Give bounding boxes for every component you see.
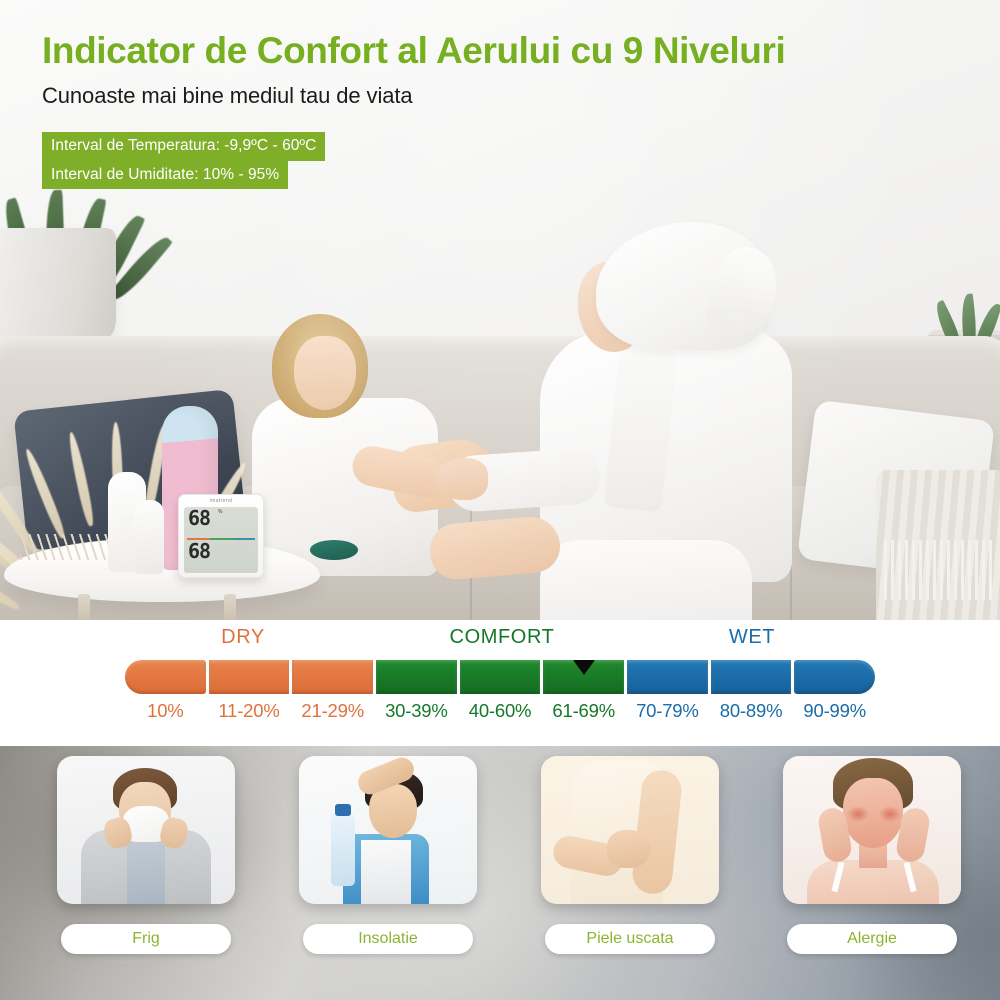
scale-segment <box>209 660 290 694</box>
device-screen: 68 % 68 <box>184 507 258 573</box>
scale-segment <box>711 660 792 694</box>
scale-segment <box>125 660 206 694</box>
scale-tick: 80-89% <box>711 700 792 728</box>
scale-segment <box>460 660 541 694</box>
scale-tick: 21-29% <box>292 700 373 728</box>
card-label-piele-uscata: Piele uscata <box>545 924 715 954</box>
zone-label-dry: DRY <box>221 626 265 649</box>
thermo-hygrometer-device: imatrend 68 % 68 <box>178 494 264 578</box>
scale-tick: 40-60% <box>460 700 541 728</box>
throw-fringe <box>884 540 994 600</box>
scale-tick: 61-69% <box>543 700 624 728</box>
current-level-marker-icon <box>573 660 595 675</box>
zone-label-wet: WET <box>729 626 775 649</box>
scale-tick-labels: 10% 11-20% 21-29% 30-39% 40-60% 61-69% 7… <box>125 700 875 728</box>
spec-badges: Interval de Temperatura: -9,9ºC - 60ºC I… <box>42 132 785 189</box>
card-alergie[interactable]: Alergie <box>774 756 970 954</box>
overheated-boy-photo-icon <box>299 756 477 904</box>
green-object <box>310 540 358 560</box>
scale-tick: 30-39% <box>376 700 457 728</box>
card-piele-uscata[interactable]: Piele uscata <box>532 756 728 954</box>
card-frig[interactable]: Frig <box>48 756 244 954</box>
page-title: Indicator de Confort al Aerului cu 9 Niv… <box>42 30 785 71</box>
white-bottle-small <box>134 500 164 574</box>
scale-segment <box>627 660 708 694</box>
symptom-cards-section: Frig Insolatie <box>0 746 1000 1000</box>
card-label-frig: Frig <box>61 924 231 954</box>
red-face-woman-photo-icon <box>783 756 961 904</box>
scale-tick: 90-99% <box>794 700 875 728</box>
scale-zone-labels: DRY COMFORT WET <box>0 626 1000 652</box>
header-text-block: Indicator de Confort al Aerului cu 9 Niv… <box>42 30 785 189</box>
sneezing-man-photo-icon <box>57 756 235 904</box>
symptom-cards-row: Frig Insolatie <box>0 746 1000 1000</box>
comfort-scale-bar <box>125 660 875 694</box>
scale-segment <box>376 660 457 694</box>
scratching-arm-photo-icon <box>541 756 719 904</box>
device-humidity-unit: % <box>218 509 222 515</box>
comfort-scale-section: DRY COMFORT WET 10% 11-20% 21-29% 30-39%… <box>0 620 1000 746</box>
badge-temperature-range: Interval de Temperatura: -9,9ºC - 60ºC <box>42 132 325 160</box>
infographic-page: imatrend 68 % 68 Indicator de Confort al… <box>0 0 1000 1000</box>
scale-tick: 70-79% <box>627 700 708 728</box>
device-temperature-value: 68 <box>188 541 210 561</box>
device-brand-label: imatrend <box>179 498 263 504</box>
device-humidity-value: 68 <box>188 508 210 528</box>
scale-segment <box>292 660 373 694</box>
scale-segment <box>794 660 875 694</box>
card-label-insolatie: Insolatie <box>303 924 473 954</box>
zone-label-comfort: COMFORT <box>450 626 555 649</box>
scale-tick: 10% <box>125 700 206 728</box>
badge-humidity-range: Interval de Umiditate: 10% - 95% <box>42 161 288 189</box>
page-subtitle: Cunoaste mai bine mediul tau de viata <box>42 83 785 109</box>
card-insolatie[interactable]: Insolatie <box>290 756 486 954</box>
scale-tick: 11-20% <box>209 700 290 728</box>
card-label-alergie: Alergie <box>787 924 957 954</box>
scale-segment <box>543 660 624 694</box>
